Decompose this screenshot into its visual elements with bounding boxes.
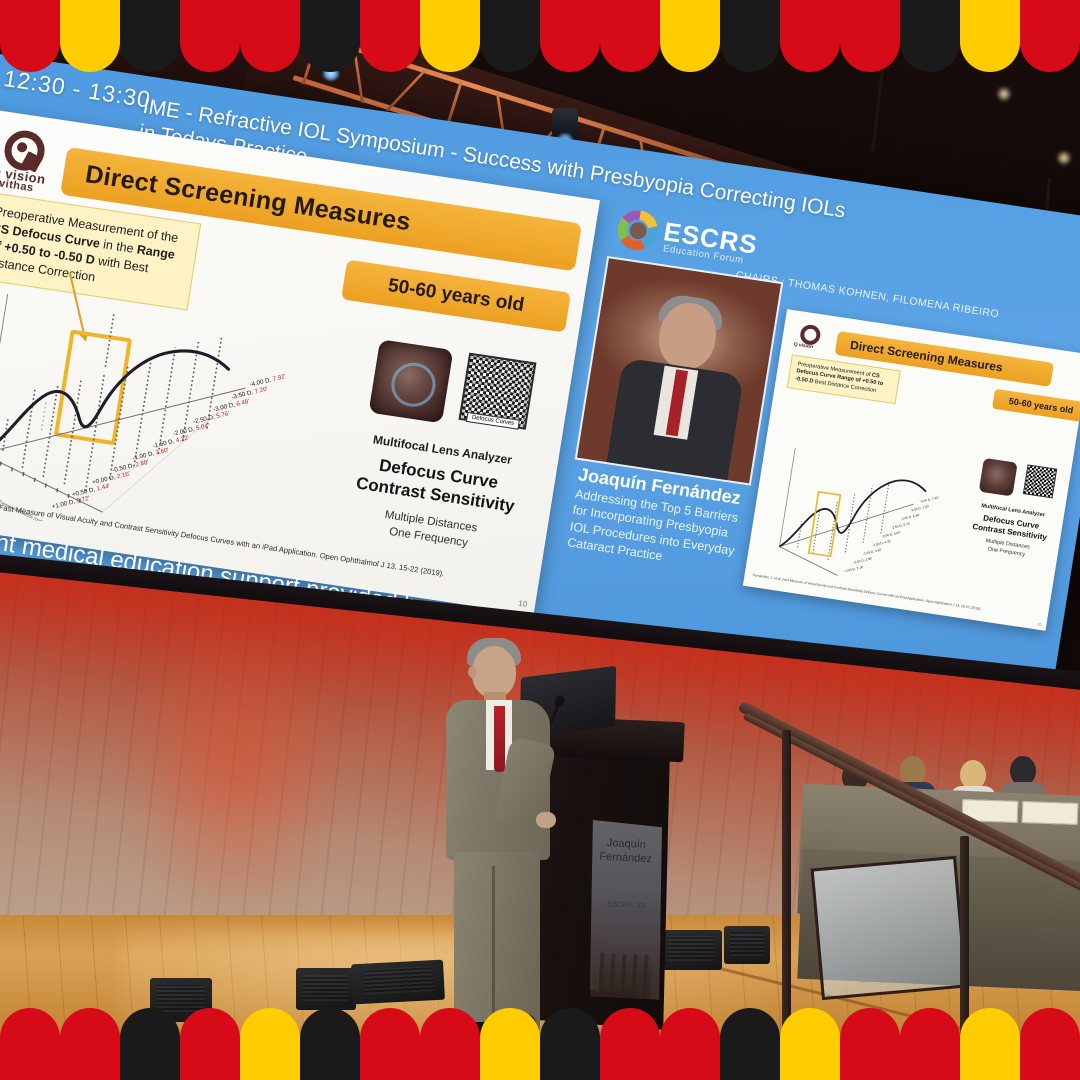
svg-text:-2.00 D, 5.04': -2.00 D, 5.04' [881, 530, 901, 538]
border-dome [420, 1008, 480, 1080]
border-dome [300, 0, 360, 72]
svg-text:-0.50 D, 2.88': -0.50 D, 2.88' [853, 556, 873, 564]
border-dome [900, 1008, 960, 1080]
slide-preview-thumbnail: Q vision Direct Screening Measures 50-60… [743, 309, 1080, 631]
svg-text:-3.50 D, 7.20': -3.50 D, 7.20' [910, 504, 930, 512]
border-dome [360, 1008, 420, 1080]
svg-text:-2.50 D, 5.76': -2.50 D, 5.76' [891, 522, 911, 530]
border-dome [660, 1008, 720, 1080]
border-dome [600, 1008, 660, 1080]
border-dome [720, 0, 780, 72]
presenter-trousers [454, 852, 540, 1032]
border-dome [120, 1008, 180, 1080]
analyzer-block: Defocus Curves Multifocal Lens Analyzer … [322, 335, 563, 562]
railing-post [782, 730, 791, 1030]
border-dome [180, 1008, 240, 1080]
border-dome [0, 0, 60, 72]
panelist-nameplate [1022, 801, 1079, 825]
border-dome [0, 1008, 60, 1080]
mini-qr-icon [1023, 464, 1057, 498]
mini-analyzer-block: Multifocal Lens Analyzer Defocus Curve C… [957, 456, 1069, 564]
svg-text:-4.00 D, 7.92': -4.00 D, 7.92' [249, 373, 287, 388]
railing-post [960, 836, 969, 1036]
stage-monitor-speaker [351, 960, 445, 1005]
border-dome [840, 0, 900, 72]
border-dome [300, 1008, 360, 1080]
qr-caption: Defocus Curves [466, 412, 520, 430]
svg-text:-2.50 D, 5.76': -2.50 D, 5.76' [192, 410, 230, 425]
svg-text:-1.50 D, 4.32': -1.50 D, 4.32' [152, 434, 190, 449]
border-dome [60, 0, 120, 72]
svg-text:-0.50 D, 2.88': -0.50 D, 2.88' [112, 459, 150, 474]
decorative-border-top [0, 0, 1080, 72]
border-dome [1020, 1008, 1080, 1080]
border-dome [360, 0, 420, 72]
ceiling-lamp-icon [1056, 150, 1072, 166]
mini-slide-number: 10 [1037, 622, 1042, 628]
border-dome [720, 1008, 780, 1080]
callout-line2: the [160, 229, 179, 245]
stage-monitor-speaker [296, 968, 356, 1010]
border-dome [960, 0, 1020, 72]
border-dome [540, 0, 600, 72]
ceiling-lamp-icon [996, 86, 1012, 102]
border-dome [600, 0, 660, 72]
callout-line2-end: in the [99, 237, 135, 256]
border-dome [180, 0, 240, 72]
svg-text:-4.00 D, 7.92': -4.00 D, 7.92' [919, 495, 939, 503]
teleprompter-glass [811, 856, 968, 1000]
svg-text:+0.50 D, 1.44': +0.50 D, 1.44' [71, 483, 110, 499]
slide-number: 10 [518, 599, 528, 609]
border-dome [900, 0, 960, 72]
border-dome [960, 1008, 1020, 1080]
escrs-panel: ESCRS Education Forum CHAIRS : THOMAS KO… [549, 205, 1080, 690]
presenter-ear [468, 666, 477, 678]
presenter-necktie [494, 706, 505, 772]
presenter [440, 636, 560, 1036]
border-dome [480, 1008, 540, 1080]
border-dome [660, 0, 720, 72]
border-dome [240, 0, 300, 72]
mini-defocus-chart: -4.00 D, 7.92' -3.50 D, 7.20' -3.00 D, 6… [751, 425, 973, 603]
border-dome [240, 1008, 300, 1080]
svg-text:-3.00 D, 6.48': -3.00 D, 6.48' [900, 513, 920, 521]
speaker-photo [575, 256, 784, 486]
border-dome [120, 0, 180, 72]
border-dome [780, 0, 840, 72]
border-dome [780, 1008, 840, 1080]
qr-code-icon: Defocus Curves [459, 353, 537, 430]
svg-text:-1.50 D, 4.32': -1.50 D, 4.32' [872, 539, 892, 547]
decorative-border-bottom [0, 1008, 1080, 1080]
qvision-logo-icon: Q vision vithas [0, 126, 59, 195]
qvision-logo-mini-icon: Q vision [793, 323, 827, 355]
mini-age-badge: 50-60 years old [992, 389, 1080, 423]
border-dome [840, 1008, 900, 1080]
svg-text:+0.00 D, 2.16': +0.00 D, 2.16' [844, 565, 865, 574]
border-dome [1020, 0, 1080, 72]
curtain-light-glow [120, 600, 350, 930]
stage-monitor-speaker [724, 926, 770, 964]
lectern-display-name: Joaquín Fernández [591, 836, 660, 867]
stage-monitor-speaker [660, 930, 722, 970]
border-dome [480, 0, 540, 72]
mini-lens-icon [979, 458, 1018, 497]
presenter-leg-seam [492, 866, 495, 1016]
lectern-display-artwork [590, 928, 661, 999]
border-dome [420, 0, 480, 72]
border-dome [60, 1008, 120, 1080]
svg-text:+0.00 D, 2.16': +0.00 D, 2.16' [92, 471, 131, 487]
presenter-hand [536, 812, 556, 828]
stage-photograph: 12:30 - 13:30 IME - Refractive IOL Sympo… [0, 0, 1080, 1080]
border-dome [540, 1008, 600, 1080]
lens-photo-icon [368, 339, 453, 423]
svg-text:-1.00 D, 3.60': -1.00 D, 3.60' [863, 548, 883, 556]
callout-line3-end: with [94, 253, 122, 271]
presenter-head [472, 646, 516, 698]
